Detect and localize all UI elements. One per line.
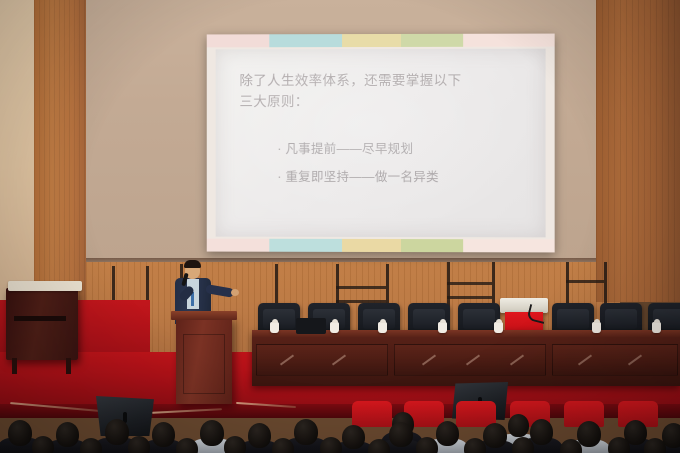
audience-head: [464, 438, 486, 453]
podium-front-panel: [183, 334, 225, 394]
wall-frame-rail: [566, 280, 604, 283]
band-segment-pink-end: [464, 34, 555, 47]
teacup: [270, 322, 279, 333]
teacup: [378, 322, 387, 333]
band-segment-pink-end: [464, 239, 555, 252]
slide-bullet-1: 凡事提前——尽早规划: [277, 135, 535, 163]
seated-audience: [0, 392, 680, 453]
audience-head: [8, 420, 32, 446]
band-segment-pink: [207, 239, 269, 252]
table-carving: [578, 354, 592, 365]
table-carving: [510, 354, 524, 365]
wall-frame-rail: [336, 286, 386, 289]
wall-frame-rail: [447, 282, 492, 285]
audience-head: [320, 437, 342, 453]
slide-bullet-2: 重复即坚持——做一名异类: [277, 163, 535, 191]
table-carving: [466, 354, 480, 365]
band-segment-teal: [269, 34, 342, 47]
piano-keyboard: [14, 316, 66, 321]
table-carving: [332, 354, 346, 365]
presenter-hair: [184, 260, 201, 268]
teacup: [592, 322, 601, 333]
auditorium-seat: [352, 401, 392, 427]
band-segment-teal: [269, 239, 342, 252]
audience-head: [483, 423, 507, 448]
table-carving: [422, 354, 436, 365]
right-wall-wood-panel: [596, 0, 680, 302]
piano-lace-cover: [8, 281, 82, 291]
wall-frame-rail: [447, 296, 492, 299]
band-segment-yellow: [342, 239, 401, 252]
teacup: [652, 322, 661, 333]
teacup: [494, 322, 503, 333]
band-segment-pink: [207, 34, 269, 47]
piano-leg: [12, 358, 17, 374]
audience-head: [105, 419, 129, 445]
table-carving: [628, 354, 642, 365]
audience-head: [32, 436, 54, 453]
teacup: [438, 322, 447, 333]
audience-head: [248, 423, 271, 448]
slide-heading-line-2: 三大原则：: [239, 92, 531, 113]
band-segment-yellow: [342, 34, 401, 47]
audience-head: [389, 422, 413, 447]
left-wall-wood-panel: [34, 0, 86, 300]
table-laptop: [296, 318, 326, 334]
wall-frame-post: [604, 262, 607, 308]
slide-heading: 除了人生效率体系，还需要掌握以下 三大原则：: [239, 71, 531, 113]
audience-head: [512, 437, 534, 453]
audience-head: [152, 422, 175, 447]
band-segment-green: [401, 34, 464, 47]
left-wall-cream-panel: [0, 0, 34, 300]
audience-head: [294, 419, 318, 445]
podium-top: [171, 311, 237, 320]
table-front-panel: [256, 344, 388, 376]
table-front-panel: [394, 344, 546, 376]
audience-head: [176, 438, 198, 453]
table-carving: [280, 354, 294, 365]
audience-head: [200, 420, 224, 446]
audience-head: [436, 421, 459, 446]
audience-head: [224, 436, 246, 453]
audience-head: [128, 436, 150, 453]
conference-table: [252, 330, 680, 386]
presenter-right-hand: [231, 289, 239, 296]
audience-head: [342, 425, 365, 449]
audience-head: [80, 438, 102, 453]
auditorium-photo: 除了人生效率体系，还需要掌握以下 三大原则： 凡事提前——尽早规划 重复即坚持—…: [0, 0, 680, 453]
audience-head: [56, 422, 79, 447]
slide-bottom-color-band: [207, 239, 555, 253]
projection-screen: 除了人生效率体系，还需要掌握以下 三大原则： 凡事提前——尽早规划 重复即坚持—…: [207, 34, 555, 253]
audience-head: [577, 421, 601, 447]
slide-heading-line-1: 除了人生效率体系，还需要掌握以下: [239, 71, 531, 92]
audience-head: [608, 437, 630, 453]
audience-head: [272, 438, 294, 453]
slide-top-color-band: [207, 34, 555, 48]
teacup: [330, 322, 339, 333]
upright-piano: [6, 288, 78, 360]
slide-content-area: 除了人生效率体系，还需要掌握以下 三大原则： 凡事提前——尽早规划 重复即坚持—…: [216, 49, 546, 238]
audience-head: [530, 419, 553, 445]
audience-head: [508, 414, 529, 437]
band-segment-green: [401, 239, 464, 252]
table-front-panel: [552, 344, 678, 376]
slide-bullet-list: 凡事提前——尽早规划 重复即坚持——做一名异类: [277, 135, 535, 191]
audience-head: [416, 437, 438, 453]
audience-head: [644, 438, 666, 453]
piano-leg: [66, 358, 71, 374]
